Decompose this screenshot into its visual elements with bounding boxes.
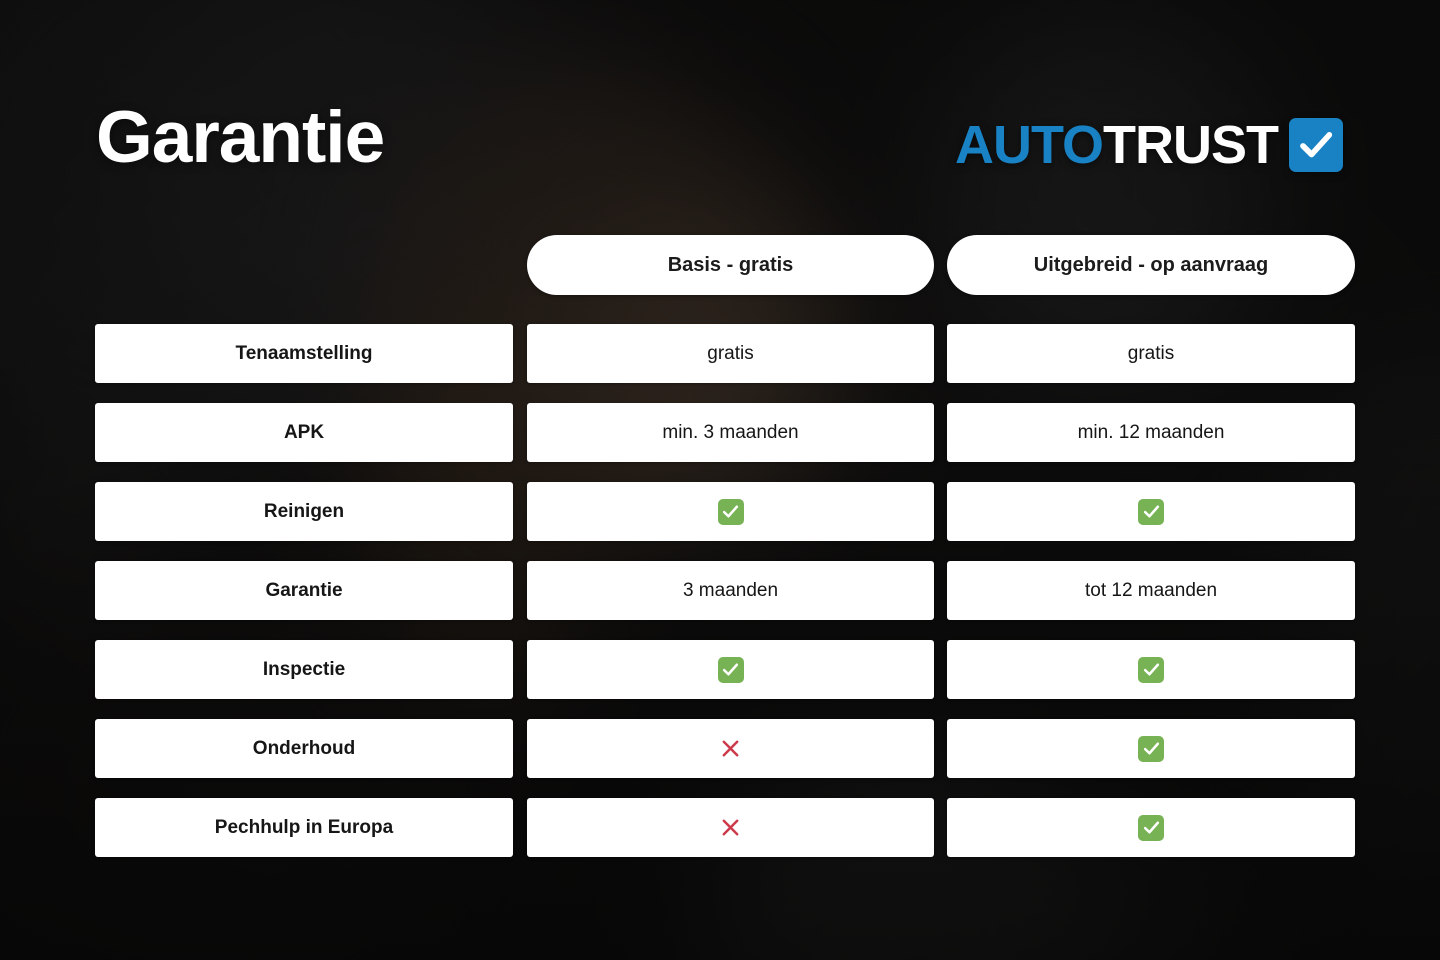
column-gap xyxy=(513,561,527,620)
column-gap xyxy=(513,403,527,462)
page-title: Garantie xyxy=(96,101,384,174)
green-check-icon xyxy=(1138,499,1164,525)
table-row: Tenaamstellinggratisgratis xyxy=(95,324,1345,383)
green-check-icon xyxy=(1138,657,1164,683)
cell-basis: min. 3 maanden xyxy=(527,403,934,462)
column-header-uitgebreid[interactable]: Uitgebreid - op aanvraag xyxy=(947,235,1355,295)
row-label: Pechhulp in Europa xyxy=(95,798,513,857)
cell-uitgebreid xyxy=(947,482,1355,541)
cell-uitgebreid xyxy=(947,798,1355,857)
table-row: Pechhulp in Europa xyxy=(95,798,1345,857)
column-gap xyxy=(934,719,947,778)
column-gap xyxy=(513,482,527,541)
column-gap xyxy=(513,235,527,295)
table-row: Onderhoud xyxy=(95,719,1345,778)
cell-basis xyxy=(527,640,934,699)
red-cross-icon xyxy=(718,815,744,841)
column-gap xyxy=(513,324,527,383)
table-body: TenaamstellinggratisgratisAPKmin. 3 maan… xyxy=(95,324,1345,857)
autotrust-logo: AUTO TRUST xyxy=(955,118,1343,172)
logo-text-trust: TRUST xyxy=(1103,118,1278,172)
row-label: Onderhoud xyxy=(95,719,513,778)
cell-basis xyxy=(527,482,934,541)
logo-text-auto: AUTO xyxy=(955,118,1103,172)
column-header-basis[interactable]: Basis - gratis xyxy=(527,235,934,295)
table-row: Garantie3 maandentot 12 maanden xyxy=(95,561,1345,620)
column-gap xyxy=(934,235,947,295)
column-gap xyxy=(934,403,947,462)
column-gap xyxy=(934,640,947,699)
cell-basis xyxy=(527,798,934,857)
green-check-icon xyxy=(718,657,744,683)
cell-uitgebreid xyxy=(947,719,1355,778)
row-label: Garantie xyxy=(95,561,513,620)
comparison-table: Basis - gratis Uitgebreid - op aanvraag … xyxy=(95,235,1345,877)
green-check-icon xyxy=(1138,736,1164,762)
column-gap xyxy=(934,798,947,857)
cell-basis: gratis xyxy=(527,324,934,383)
row-label: Tenaamstelling xyxy=(95,324,513,383)
table-row: APKmin. 3 maandenmin. 12 maanden xyxy=(95,403,1345,462)
feature-column-header xyxy=(95,235,513,295)
cell-uitgebreid xyxy=(947,640,1355,699)
cell-uitgebreid: min. 12 maanden xyxy=(947,403,1355,462)
row-label: Inspectie xyxy=(95,640,513,699)
cell-basis: 3 maanden xyxy=(527,561,934,620)
red-cross-icon xyxy=(718,736,744,762)
row-label: Reinigen xyxy=(95,482,513,541)
checkbox-check-icon xyxy=(1289,118,1343,172)
column-gap xyxy=(934,324,947,383)
row-label: APK xyxy=(95,403,513,462)
column-gap xyxy=(513,798,527,857)
column-gap xyxy=(934,482,947,541)
cell-uitgebreid: gratis xyxy=(947,324,1355,383)
table-header-row: Basis - gratis Uitgebreid - op aanvraag xyxy=(95,235,1345,295)
green-check-icon xyxy=(718,499,744,525)
column-gap xyxy=(513,640,527,699)
column-gap xyxy=(513,719,527,778)
green-check-icon xyxy=(1138,815,1164,841)
table-row: Reinigen xyxy=(95,482,1345,541)
cell-uitgebreid: tot 12 maanden xyxy=(947,561,1355,620)
column-gap xyxy=(934,561,947,620)
table-row: Inspectie xyxy=(95,640,1345,699)
cell-basis xyxy=(527,719,934,778)
